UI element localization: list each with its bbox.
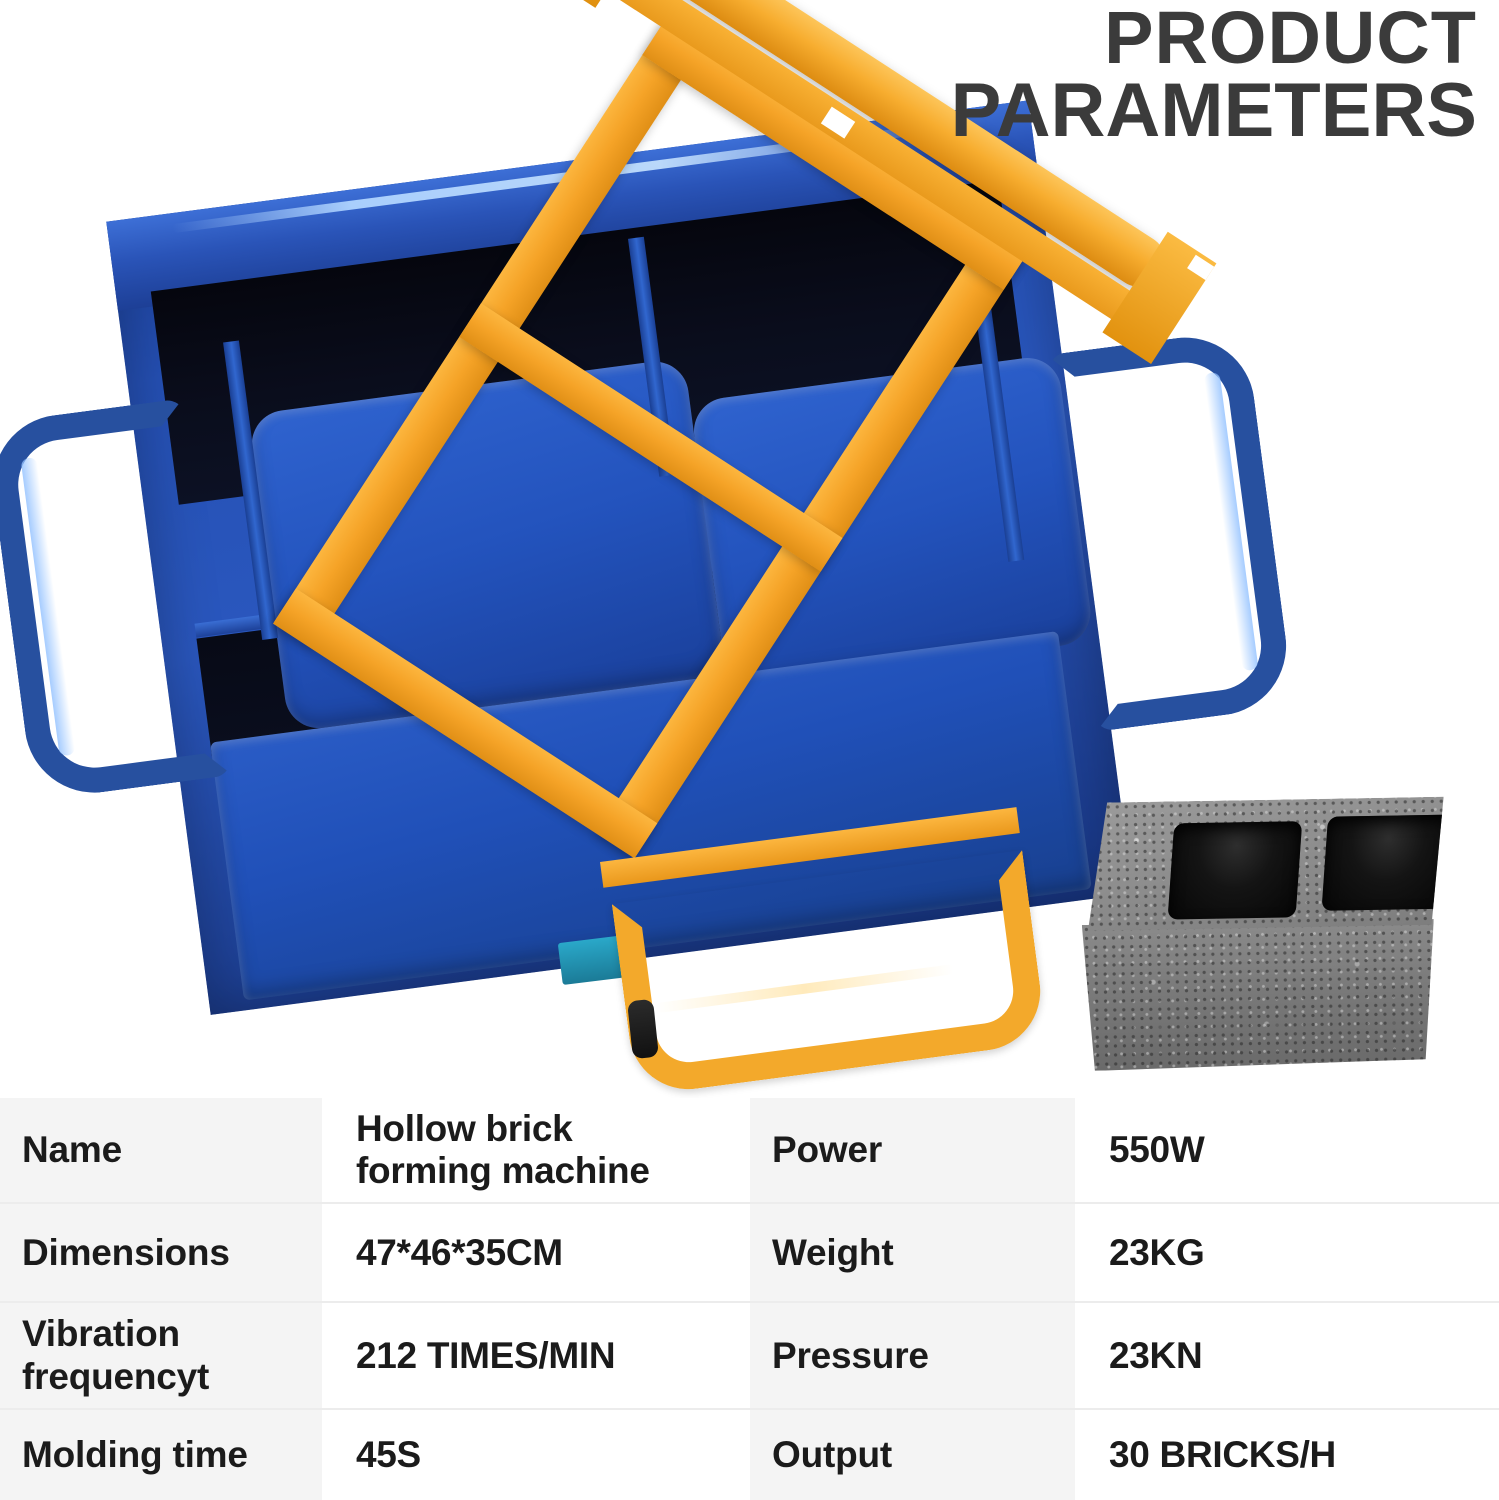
spec-value-pressure: 23KN <box>1075 1303 1499 1410</box>
spec-label-name: Name <box>0 1098 322 1204</box>
spec-label-vibration-frequency: Vibration frequencyt <box>0 1303 322 1410</box>
concrete-block-illustration <box>1058 797 1453 1072</box>
spec-label-vibration-line-2: frequencyt <box>22 1356 209 1397</box>
spec-label-vibration-line-1: Vibration <box>22 1313 180 1354</box>
spec-label-pressure: Pressure <box>750 1303 1075 1410</box>
spec-value-output: 30 BRICKS/H <box>1075 1410 1499 1500</box>
spec-value-name-line-2: forming machine <box>356 1150 650 1191</box>
block-front-texture <box>1082 919 1436 1071</box>
spec-label-power: Power <box>750 1098 1075 1204</box>
frame-bar-middle <box>459 303 842 571</box>
spec-value-vibration-frequency: 212 TIMES/MIN <box>322 1303 750 1410</box>
product-parameters-table: Name Hollow brick forming machine Power … <box>0 1098 1499 1500</box>
frame-bar-bottom <box>273 588 657 858</box>
spec-value-name-line-1: Hollow brick <box>356 1108 572 1149</box>
block-cavity-right <box>1321 815 1452 911</box>
product-photo-area: PRODUCT PARAMETERS <box>0 0 1499 1098</box>
block-top-face <box>1086 797 1446 931</box>
spec-value-molding-time: 45S <box>322 1410 750 1500</box>
spec-label-output: Output <box>750 1410 1075 1500</box>
spec-value-name: Hollow brick forming machine <box>322 1098 750 1204</box>
spec-label-weight: Weight <box>750 1204 1075 1303</box>
spec-label-dimensions: Dimensions <box>0 1204 322 1303</box>
spec-value-weight: 23KG <box>1075 1204 1499 1303</box>
block-cavity-left <box>1168 821 1303 919</box>
spec-value-power: 550W <box>1075 1098 1499 1204</box>
block-front-face <box>1082 919 1436 1071</box>
spec-value-dimensions: 47*46*35CM <box>322 1204 750 1303</box>
spec-label-molding-time: Molding time <box>0 1410 322 1500</box>
